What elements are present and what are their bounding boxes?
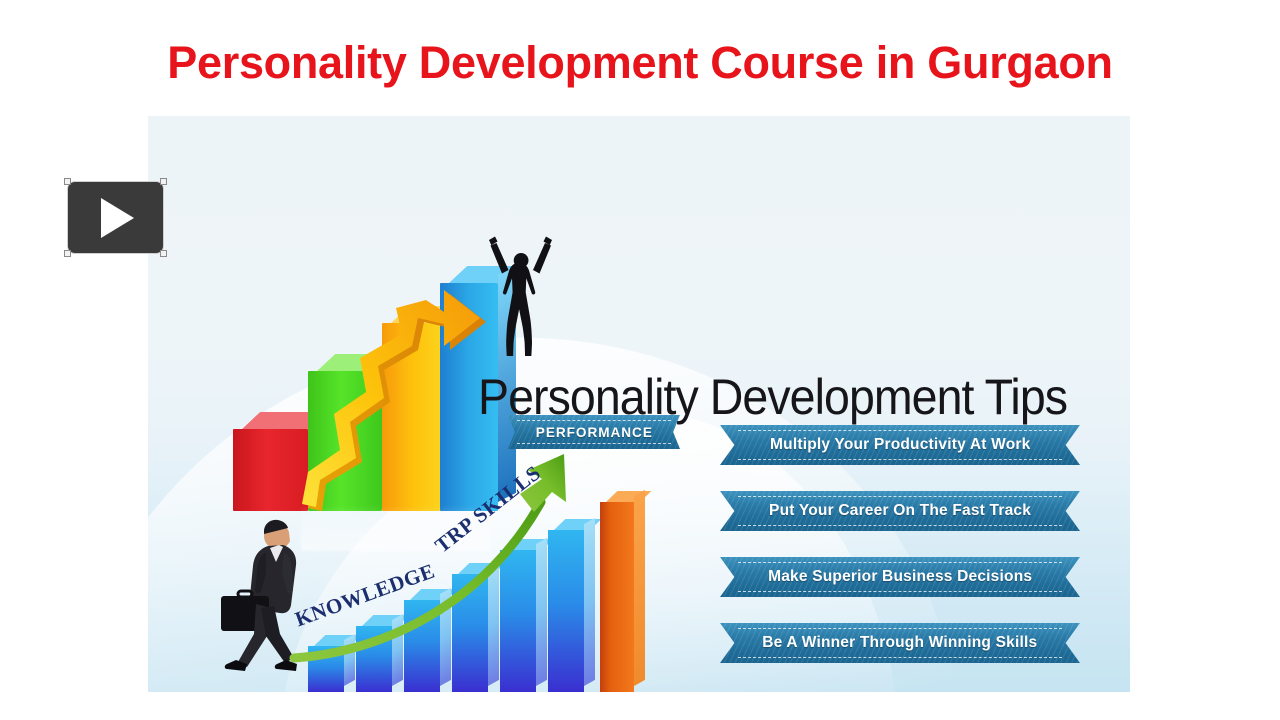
- skills-bar-4: [452, 574, 488, 692]
- zigzag-upward-arrow-icon: [300, 276, 490, 511]
- play-triangle-icon: [101, 198, 134, 238]
- ribbon-performance[interactable]: PERFORMANCE: [508, 415, 680, 449]
- slide-image-panel[interactable]: Personality Development Tips: [148, 116, 1130, 692]
- skills-bar-performance: [600, 502, 634, 692]
- tip-ribbon[interactable]: Multiply Your Productivity At Work: [720, 425, 1080, 465]
- ribbon-stitch-top: [517, 420, 672, 421]
- selection-handle-top-left[interactable]: [64, 178, 71, 185]
- ribbon-stitch-top: [738, 430, 1062, 431]
- ribbon-stitch-bottom: [738, 459, 1062, 460]
- play-button[interactable]: [68, 182, 163, 253]
- ribbon-stitch-top: [738, 628, 1062, 629]
- ribbon-stitch-bottom: [738, 591, 1062, 592]
- tip-ribbon-label: Multiply Your Productivity At Work: [770, 436, 1030, 454]
- ribbon-performance-label: PERFORMANCE: [535, 424, 652, 440]
- ribbon-stitch-top: [738, 562, 1062, 563]
- skills-bar-6: [548, 530, 584, 692]
- winner-silhouette-icon: [488, 234, 560, 356]
- ribbon-stitch-bottom: [738, 525, 1062, 526]
- selection-handle-bottom-left[interactable]: [64, 250, 71, 257]
- selection-handle-bottom-right[interactable]: [160, 250, 167, 257]
- tip-ribbon[interactable]: Put Your Career On The Fast Track: [720, 491, 1080, 531]
- ribbon-stitch-top: [738, 496, 1062, 497]
- growth-bar-red: [233, 429, 308, 511]
- skills-bar-5: [500, 550, 536, 692]
- tip-ribbon-label: Make Superior Business Decisions: [768, 568, 1032, 586]
- ribbon-stitch-bottom: [738, 657, 1062, 658]
- tip-ribbon-label: Be A Winner Through Winning Skills: [762, 634, 1037, 652]
- skills-bar-3: [404, 600, 440, 692]
- skills-bar-1: [308, 646, 344, 692]
- page-title: Personality Development Course in Gurgao…: [0, 34, 1280, 92]
- skills-bar-2: [356, 626, 392, 692]
- tip-ribbon-label: Put Your Career On The Fast Track: [769, 502, 1031, 520]
- tip-ribbon[interactable]: Be A Winner Through Winning Skills: [720, 623, 1080, 663]
- ribbon-stitch-bottom: [517, 443, 672, 444]
- tip-ribbon[interactable]: Make Superior Business Decisions: [720, 557, 1080, 597]
- selection-handle-top-right[interactable]: [160, 178, 167, 185]
